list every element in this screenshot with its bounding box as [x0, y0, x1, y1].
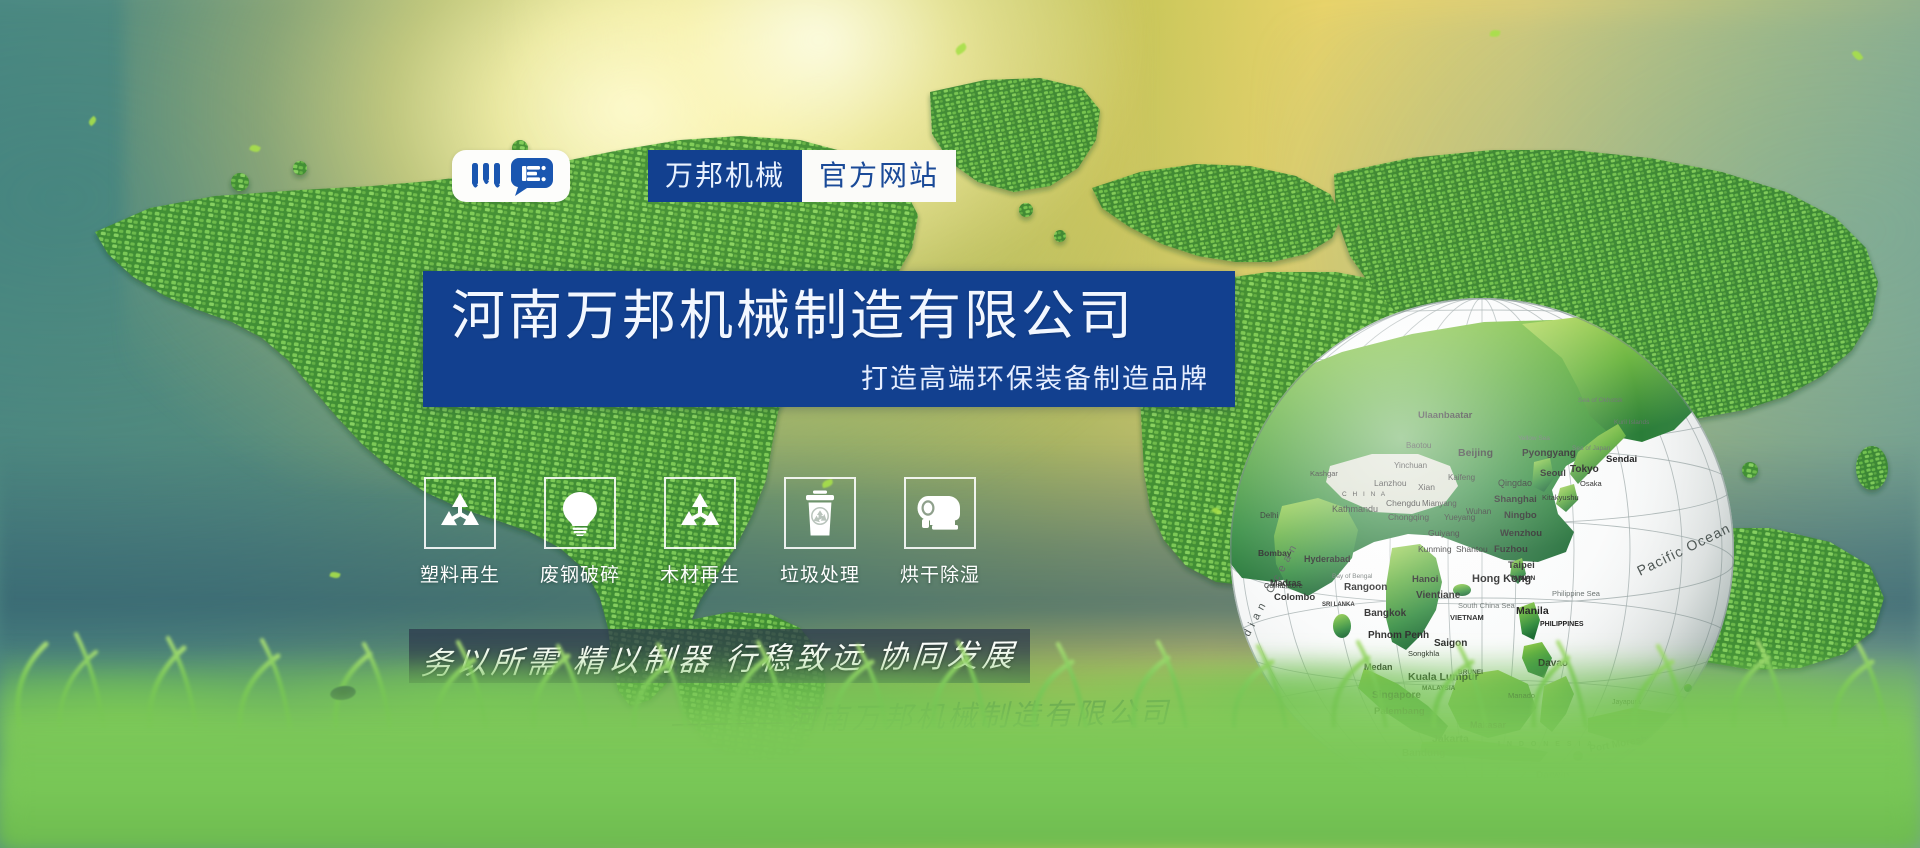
recycle-icon — [677, 491, 723, 535]
tab-wanbang-jixie[interactable]: 万邦机械 — [648, 150, 802, 202]
wanbang-logo[interactable] — [452, 150, 570, 202]
service-icon-box — [784, 477, 856, 549]
service-icon-box — [904, 477, 976, 549]
trash-bin-icon — [802, 489, 838, 537]
logo-w-mark — [470, 161, 504, 191]
grass-foreground — [0, 548, 1920, 848]
site-header: 万邦机械 官方网站 — [452, 150, 956, 202]
header-tabs: 万邦机械 官方网站 — [648, 150, 956, 202]
hero-banner: Ulaanbaatar Beijing Baotou Yinchuan Lanz… — [0, 0, 1920, 848]
service-icon-box — [544, 477, 616, 549]
lightbulb-icon — [559, 490, 601, 536]
hero-title-panel: 河南万邦机械制造有限公司 打造高端环保装备制造品牌 — [423, 271, 1235, 407]
recycle-icon — [437, 491, 483, 535]
page-title: 河南万邦机械制造有限公司 — [451, 283, 1135, 351]
service-icon-box — [664, 477, 736, 549]
dryer-icon — [915, 494, 965, 532]
tab-official-site[interactable]: 官方网站 — [802, 150, 956, 202]
page-subtitle: 打造高端环保装备制造品牌 — [861, 357, 1209, 396]
logo-b-speech-bubble-icon — [511, 156, 553, 196]
service-icon-box — [424, 477, 496, 549]
grass-near-blur-layer — [0, 728, 1920, 848]
